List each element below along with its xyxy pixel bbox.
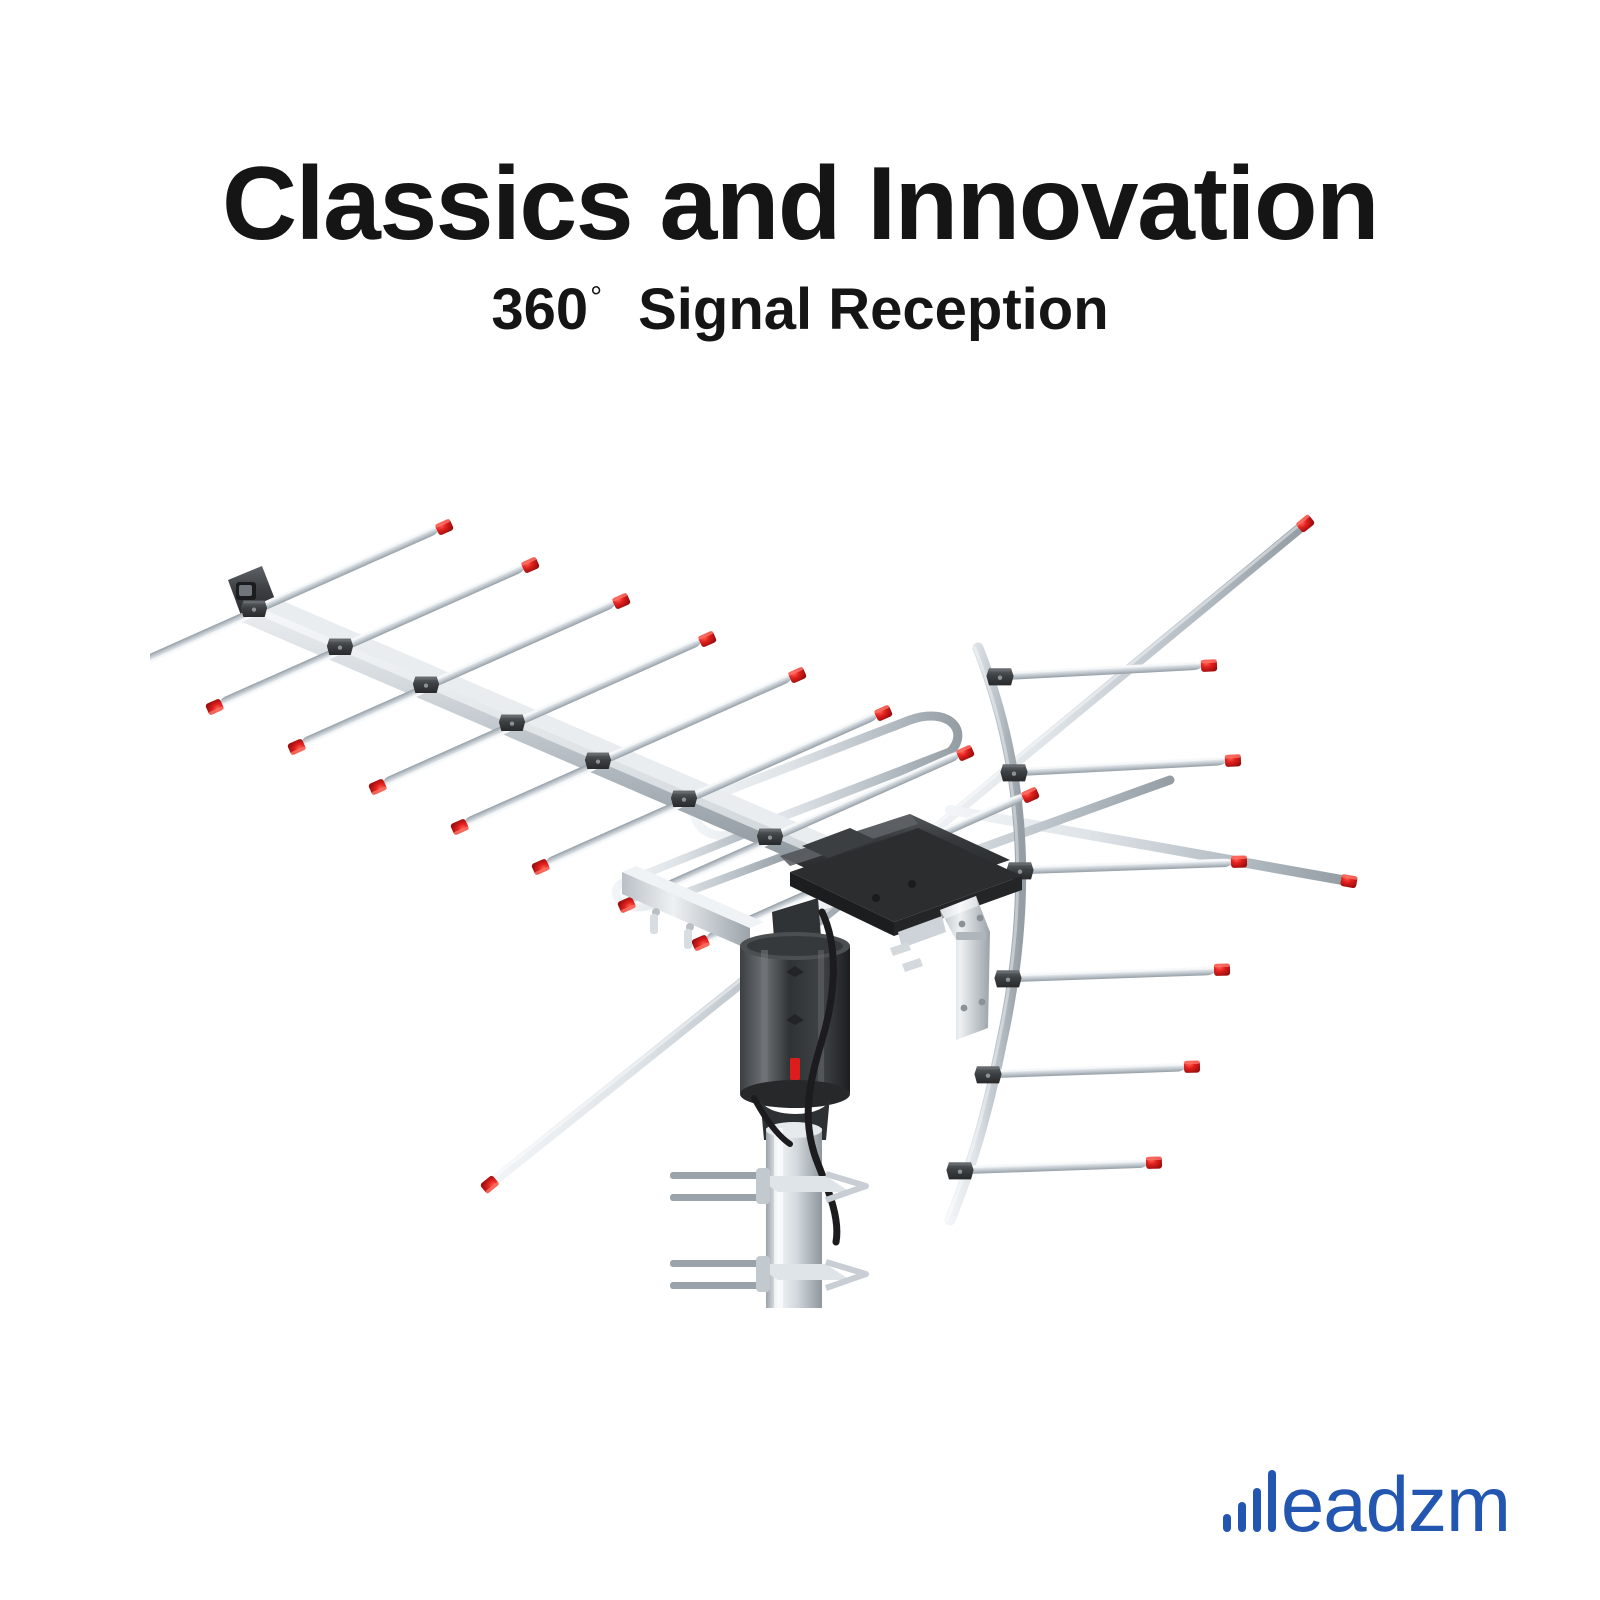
element-pair-1 (150, 518, 454, 674)
heading-block: Classics and Innovation 360 ° Signal Rec… (0, 150, 1600, 339)
subtitle-text: Signal Reception (638, 281, 1109, 339)
subtitle-number: 360 (491, 281, 588, 339)
right-rod-4 (994, 963, 1230, 987)
brand-logo: eadzm (1223, 1448, 1510, 1538)
signal-bars-icon (1223, 1470, 1276, 1538)
brand-wordmark: eadzm (1281, 1472, 1510, 1538)
cross-bracket-upper (670, 1168, 866, 1204)
right-rod-2 (1000, 754, 1241, 781)
right-rod-6 (946, 1156, 1162, 1179)
cross-bracket-lower (670, 1256, 866, 1292)
right-rod-1 (986, 659, 1217, 685)
antenna-illustration (150, 480, 1450, 1310)
right-rod-5 (974, 1060, 1200, 1083)
page-title: Classics and Innovation (0, 150, 1600, 259)
product-image (150, 480, 1450, 1310)
subtitle-row: 360 ° Signal Reception (0, 281, 1600, 339)
degree-symbol-icon: ° (590, 283, 602, 313)
